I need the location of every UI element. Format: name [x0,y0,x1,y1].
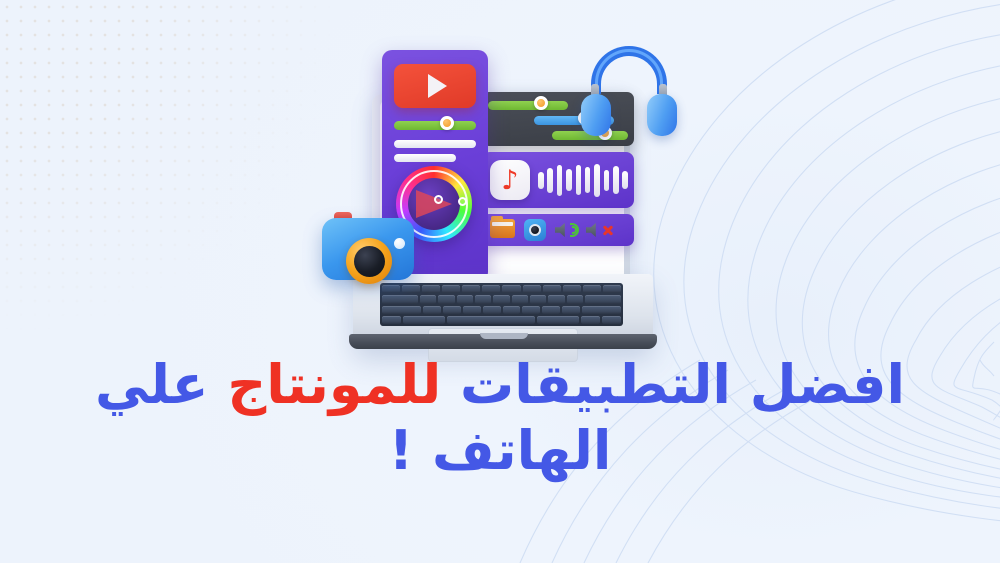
headline-text-part2: علي [95,353,227,416]
camera-3d [322,210,414,282]
poster-canvas: ♪ [0,0,1000,563]
camera-lens-icon[interactable] [524,219,546,241]
music-note-icon[interactable]: ♪ [490,160,530,200]
color-wheel-inner [408,178,460,230]
headline-highlight-word: للمونتاج [227,353,441,416]
headline-line-1: افضل التطبيقات للمونتاج علي [0,352,1000,418]
timeline-track-green-1[interactable] [488,101,568,110]
folder-icon[interactable] [490,219,515,241]
color-wheel-triangle [416,190,452,218]
headline-text-part1: افضل التطبيقات [441,353,905,416]
color-wheel-handle-2[interactable] [458,197,467,206]
timeline-knob-1[interactable] [534,96,548,110]
speaker-on-icon[interactable] [555,223,577,237]
laptop-front-notch [480,333,528,339]
speaker-mute-icon[interactable] [586,223,613,237]
background-dot-pattern [0,0,330,330]
headphones-3d [583,46,675,140]
headphone-cup-right [647,94,677,136]
play-triangle-icon [428,74,447,98]
camera-lens [346,238,392,284]
headphone-cup-left [581,94,611,136]
audio-waveform [538,161,628,199]
preview-slider-knob[interactable] [440,116,454,130]
headline: افضل التطبيقات للمونتاج علي الهاتف ! [0,352,1000,484]
camera-flash [394,238,405,249]
play-button[interactable] [394,64,476,108]
camera-body [322,218,414,280]
laptop-keyboard[interactable] [380,283,623,326]
headline-line-2: الهاتف ! [0,418,1000,484]
color-wheel-handle-1[interactable] [434,195,443,204]
text-line-2 [394,154,456,162]
video-editing-illustration: ♪ [318,34,698,354]
audio-panel: ♪ [482,152,634,208]
preview-slider[interactable] [394,121,476,130]
toolbar-panel [482,214,634,246]
text-line-1 [394,140,476,148]
